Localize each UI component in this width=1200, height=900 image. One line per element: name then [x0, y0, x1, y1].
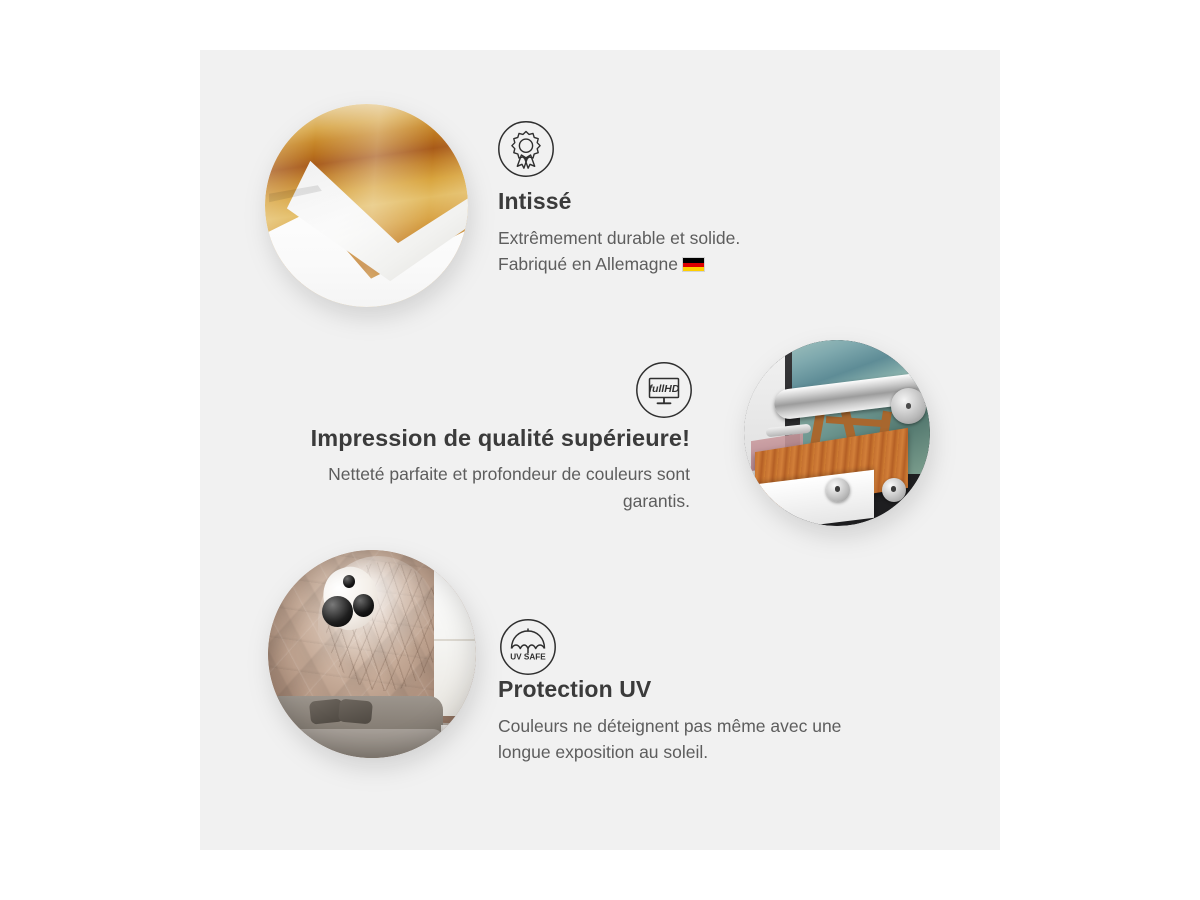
feature-title: Protection UV — [498, 676, 898, 704]
fullhd-monitor-icon: fullHD — [635, 361, 693, 419]
fullhd-label: fullHD — [649, 384, 680, 395]
feature-text-intisse: Intissé Extrêmement durable et solide. F… — [498, 188, 898, 278]
german-flag-icon — [682, 257, 705, 272]
feature-text-protection-uv: Protection UV Couleurs ne déteignent pas… — [498, 676, 898, 766]
feature-title: Intissé — [498, 188, 898, 216]
feature-body-line2: Fabriqué en Allemagne — [498, 254, 678, 274]
feature-body-line2: longue exposition au soleil. — [498, 742, 708, 762]
uv-safe-label: UV SAFE — [510, 653, 546, 662]
award-rosette-icon — [497, 120, 555, 178]
uv-safe-umbrella-icon: UV SAFE — [499, 618, 557, 676]
feature-body: Couleurs ne déteignent pas même avec une… — [498, 713, 898, 766]
feature-body-line1: Extrêmement durable et solide. — [498, 228, 740, 248]
feature-title: Impression de qualité supérieure! — [280, 424, 690, 452]
feature-body-line1: Couleurs ne déteignent pas même avec une — [498, 716, 841, 736]
feature-image-intisse — [265, 104, 468, 307]
feature-image-protection-uv — [268, 550, 476, 758]
promo-infographic: Intissé Extrêmement durable et solide. F… — [0, 0, 1200, 900]
feature-image-impression — [744, 340, 930, 526]
feature-body-line1: Netteté parfaite et profondeur de couleu… — [328, 464, 690, 484]
feature-body: Netteté parfaite et profondeur de couleu… — [280, 461, 690, 514]
feature-body: Extrêmement durable et solide. Fabriqué … — [498, 225, 898, 278]
feature-body-line2: garantis. — [623, 491, 690, 511]
feature-text-impression: Impression de qualité supérieure! Nettet… — [280, 424, 690, 514]
